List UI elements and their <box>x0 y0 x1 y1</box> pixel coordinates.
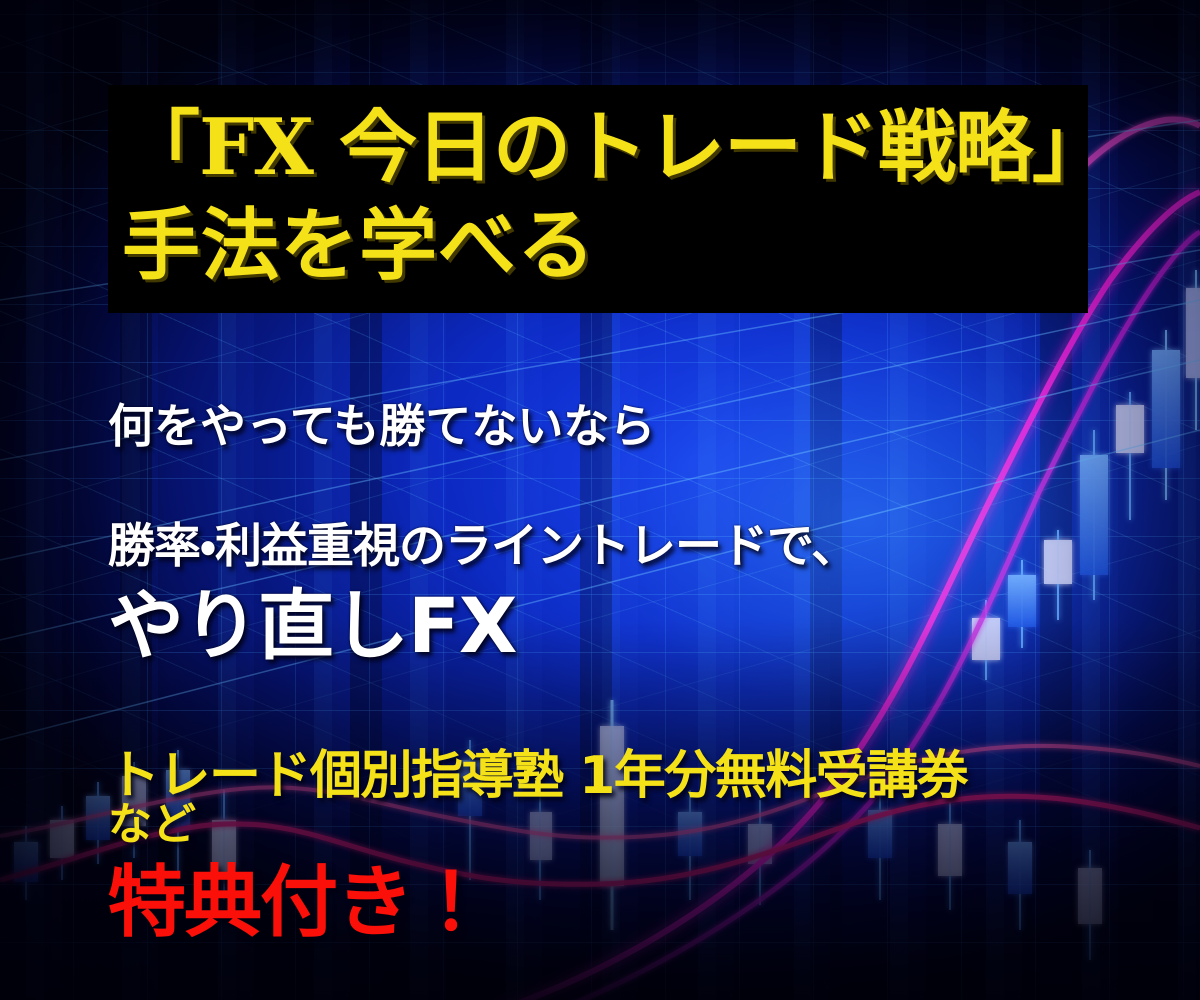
headline-line-1: 「FX 今日のトレード戦略」 <box>122 99 1088 197</box>
product-title: やり直しFX <box>108 580 517 672</box>
headline-line-2: 手法を学べる <box>122 197 1088 295</box>
bonus-etc-text: など <box>108 798 196 852</box>
bonus-offer-text: トレード個別指導塾 1年分無料受講券 <box>108 745 967 807</box>
headline-box: 「FX 今日のトレード戦略」 手法を学べる <box>108 85 1088 313</box>
promo-banner: 「FX 今日のトレード戦略」 手法を学べる 何をやっても勝てないなら 勝率・利益… <box>0 0 1200 1000</box>
bonus-badge-text: 特典付き！ <box>108 855 488 951</box>
method-text: 勝率・利益重視のライントレードで、 <box>108 518 857 576</box>
hook-text: 何をやっても勝てないなら <box>108 398 655 454</box>
